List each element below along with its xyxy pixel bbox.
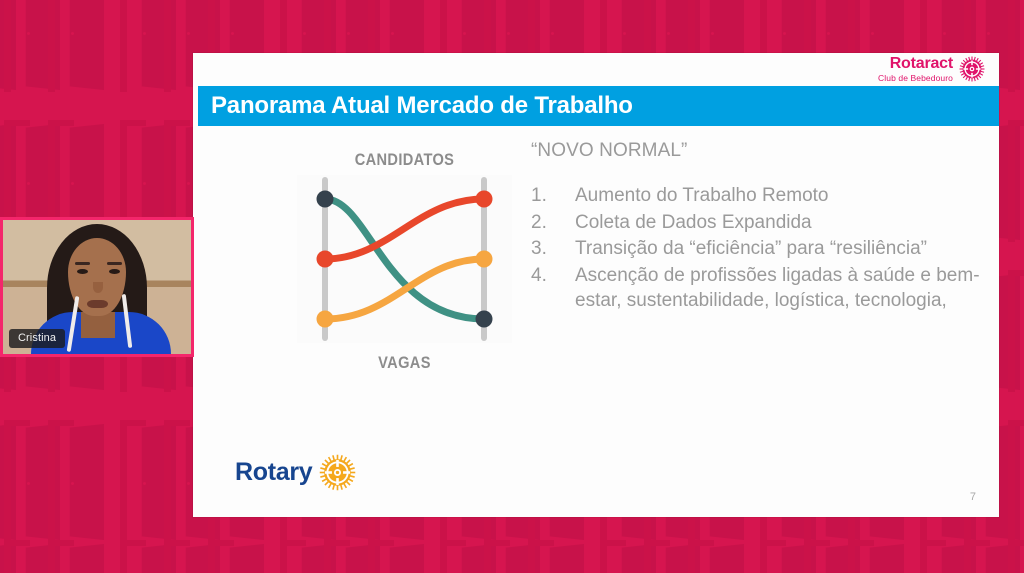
door-icon — [368, 540, 424, 573]
list-item-number: 1. — [531, 184, 575, 209]
door-icon — [1008, 540, 1024, 573]
shared-slide: Rotaract Club de Bebedouro — [193, 53, 999, 517]
rotaract-club-name: Club de Bebedouro — [878, 74, 953, 83]
rotaract-brand-lockup: Rotaract Club de Bebedouro — [878, 56, 985, 83]
list-item-number: 2. — [531, 211, 575, 236]
participant-eye-left — [77, 269, 88, 274]
chart-marker-left-mid — [317, 251, 334, 268]
rotary-brand-lockup: Rotary — [235, 454, 356, 491]
chart-label-vagas: VAGAS — [312, 353, 497, 373]
candidates-vacancies-chart: CANDIDATOS — [297, 150, 512, 380]
door-icon — [208, 540, 264, 573]
door-icon — [48, 0, 104, 92]
slide-title-band: Panorama Atual Mercado de Trabalho — [198, 86, 999, 126]
zoom-meeting-screen: Rotaract Club de Bebedouro — [0, 0, 1024, 573]
door-icon — [1008, 0, 1024, 92]
list-item-text: Ascenção de profissões ligadas à saúde e… — [575, 264, 986, 313]
door-icon — [688, 540, 744, 573]
door-pattern-row — [0, 540, 1024, 573]
participant-name-label: Cristina — [9, 329, 65, 348]
list-item: 2. Coleta de Dados Expandida — [531, 211, 986, 236]
slide-content-text: “NOVO NORMAL” 1. Aumento do Trabalho Rem… — [531, 140, 986, 315]
door-icon — [1008, 420, 1024, 542]
chart-marker-right-top — [476, 191, 493, 208]
rotary-name: Rotary — [235, 458, 312, 487]
door-icon — [48, 420, 104, 542]
door-icon — [848, 540, 904, 573]
participant-nose — [93, 282, 103, 293]
rotaract-brand-text: Rotaract Club de Bebedouro — [878, 56, 953, 83]
participant-eyebrow-left — [75, 262, 90, 265]
door-icon — [48, 540, 104, 573]
participant-eye-right — [109, 269, 120, 274]
door-icon — [1008, 120, 1024, 242]
chart-marker-right-mid — [476, 251, 493, 268]
participant-eyebrow-right — [107, 262, 122, 265]
participant-mouth — [87, 300, 108, 308]
list-item-text: Aumento do Trabalho Remoto — [575, 184, 986, 209]
content-numbered-list: 1. Aumento do Trabalho Remoto 2. Coleta … — [531, 184, 986, 313]
rotaract-name: Rotaract — [878, 56, 953, 73]
chart-plot-area — [297, 175, 512, 343]
list-item: 3. Transição da “eficiência” para “resil… — [531, 237, 986, 262]
content-headline: “NOVO NORMAL” — [531, 140, 986, 162]
list-item-number: 3. — [531, 237, 575, 262]
list-item: 4. Ascenção de profissões ligadas à saúd… — [531, 264, 986, 313]
chart-marker-right-bottom — [476, 311, 493, 328]
chart-label-candidatos: CANDIDATOS — [312, 150, 497, 170]
door-icon — [528, 540, 584, 573]
list-item-text: Transição da “eficiência” para “resiliên… — [575, 237, 986, 262]
list-item-text: Coleta de Dados Expandida — [575, 211, 986, 236]
list-item-number: 4. — [531, 264, 575, 289]
slide-title: Panorama Atual Mercado de Trabalho — [198, 92, 633, 120]
slide-page-number: 7 — [970, 491, 976, 503]
chart-marker-left-bottom — [317, 311, 334, 328]
participant-video-tile[interactable]: Cristina — [0, 217, 194, 357]
door-icon — [1008, 270, 1024, 392]
rotary-wheel-icon — [319, 454, 356, 491]
rotary-wheel-icon — [959, 56, 985, 82]
list-item: 1. Aumento do Trabalho Remoto — [531, 184, 986, 209]
chart-marker-left-top — [317, 191, 334, 208]
slide-body: CANDIDATOS — [193, 136, 999, 466]
